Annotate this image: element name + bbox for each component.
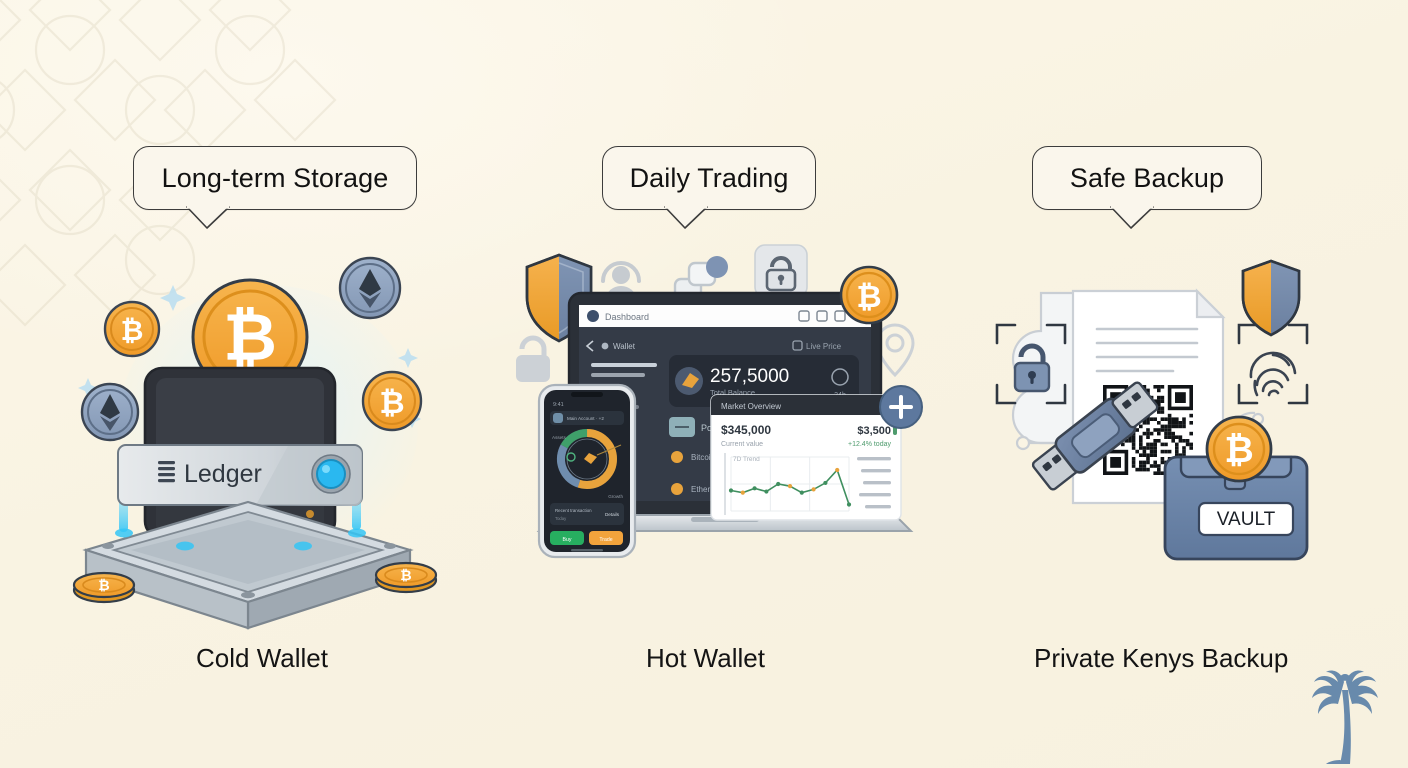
qr-module — [1168, 428, 1172, 432]
qr-module — [1168, 425, 1172, 429]
keys-backup-illustration: VAULT ₿ — [985, 255, 1315, 595]
qr-module — [1168, 435, 1172, 439]
qr-module — [1157, 428, 1161, 432]
qr-module — [1161, 428, 1165, 432]
qr-module — [1153, 439, 1157, 443]
data-point — [776, 482, 780, 486]
qr-module — [1153, 446, 1157, 450]
qr-module — [1164, 450, 1168, 454]
qr-module — [1189, 446, 1193, 450]
qr-module — [1146, 457, 1150, 461]
qr-module — [1143, 432, 1147, 436]
palm-tree-logo — [1300, 660, 1392, 764]
qr-module — [1132, 457, 1136, 461]
bubble-tail — [663, 207, 709, 229]
qr-module — [1171, 432, 1175, 436]
qr-module — [1175, 450, 1179, 454]
bitcoin-coin: ₿ — [841, 267, 897, 323]
qr-module — [1175, 435, 1179, 439]
qr-module — [1168, 432, 1172, 436]
qr-module — [1153, 461, 1157, 465]
svg-text:₿: ₿ — [400, 567, 411, 583]
qr-module — [1143, 468, 1147, 472]
qr-module — [1135, 450, 1139, 454]
qr-module — [1164, 425, 1168, 429]
qr-module — [1150, 443, 1154, 447]
data-point — [741, 491, 745, 495]
caption-hot-wallet: Hot Wallet — [646, 643, 765, 674]
qr-module — [1161, 417, 1165, 421]
qr-module — [1171, 421, 1175, 425]
ledger-band: Ledger — [118, 445, 362, 506]
ledger-brand-label: Ledger — [184, 460, 262, 488]
qr-module — [1157, 439, 1161, 443]
fingerprint-icon — [1251, 353, 1295, 395]
qr-module — [1146, 443, 1150, 447]
qr-module — [1139, 439, 1143, 443]
qr-module — [1171, 439, 1175, 443]
location-pin-icon — [877, 325, 913, 375]
qr-module — [1186, 443, 1190, 447]
data-point — [788, 484, 792, 488]
qr-module — [1143, 461, 1147, 465]
qr-module — [1146, 468, 1150, 472]
qr-module — [1150, 464, 1154, 468]
bitcoin-coin-small-right: ₿ — [363, 372, 421, 430]
qr-module — [1139, 468, 1143, 472]
laptop-titlebar-title: Dashboard — [605, 312, 649, 322]
qr-module — [1189, 414, 1193, 418]
qr-module — [1146, 428, 1150, 432]
phone-info-sub: Today — [555, 516, 567, 521]
qr-module — [1179, 421, 1183, 425]
app-logo-dot — [587, 310, 599, 322]
phone-chart-label-right: Growth — [608, 494, 623, 499]
qr-module — [1146, 446, 1150, 450]
data-point — [764, 489, 768, 493]
qr-module — [1153, 471, 1157, 475]
vault-label: VAULT — [1217, 509, 1276, 530]
qr-module — [1143, 450, 1147, 454]
ethereum-coin-left — [82, 384, 138, 440]
qr-module — [1161, 407, 1165, 411]
svg-text:₿: ₿ — [856, 279, 881, 314]
qr-module — [1139, 453, 1143, 457]
qr-module — [1182, 417, 1186, 421]
data-point — [753, 486, 757, 490]
qr-module — [1161, 425, 1165, 429]
data-point — [847, 502, 851, 506]
qr-module — [1146, 435, 1150, 439]
qr-module — [1161, 396, 1165, 400]
qr-module — [1135, 468, 1139, 472]
qr-module — [1157, 396, 1161, 400]
qr-module — [1182, 425, 1186, 429]
caption-cold-wallet: Cold Wallet — [196, 643, 328, 674]
cold-wallet-illustration: ₿ ₿ ₿ — [60, 250, 480, 630]
svg-text:₿: ₿ — [1224, 429, 1253, 470]
qr-module — [1132, 464, 1136, 468]
qr-module — [1139, 435, 1143, 439]
qr-module — [1186, 439, 1190, 443]
card-change-sub: +12.4% today — [848, 441, 892, 448]
caption-keys-backup: Private Kenys Backup — [1034, 643, 1288, 674]
qr-module — [1157, 471, 1161, 475]
bubble-label: Daily Trading — [630, 163, 789, 194]
phone-status-time: 9:41 — [553, 402, 564, 408]
qr-module — [1132, 443, 1136, 447]
qr-module — [1139, 464, 1143, 468]
qr-module — [1168, 417, 1172, 421]
market-overview-card: Market Overview $345,000 Current value $… — [711, 395, 901, 520]
phone-chart-label-left: Assets — [552, 435, 566, 440]
qr-module — [1168, 421, 1172, 425]
qr-module — [1182, 446, 1186, 450]
qr-module — [1153, 443, 1157, 447]
qr-module — [1143, 464, 1147, 468]
laptop-nav-label: Wallet — [613, 342, 636, 351]
card-chart-legend: 7D Trend — [733, 456, 760, 463]
infographic-canvas: Long-term Storage Daily Trading Safe Bac… — [0, 0, 1408, 768]
qr-module — [1157, 389, 1161, 393]
qr-module — [1150, 450, 1154, 454]
bitcoin-coin-small-left: ₿ — [105, 302, 159, 356]
qr-module — [1164, 443, 1168, 447]
qr-module — [1179, 439, 1183, 443]
svg-text:Buy: Buy — [563, 537, 572, 543]
qr-module — [1143, 446, 1147, 450]
qr-module — [1182, 450, 1186, 454]
qr-module — [1182, 421, 1186, 425]
qr-module — [1175, 421, 1179, 425]
qr-module — [1164, 428, 1168, 432]
data-point — [812, 487, 816, 491]
card-header: Market Overview — [721, 402, 781, 411]
svg-text:₿: ₿ — [379, 385, 404, 420]
svg-text:₿: ₿ — [121, 315, 144, 346]
card-value-sub: Current value — [721, 441, 763, 448]
qr-module — [1139, 425, 1143, 429]
qr-module — [1146, 432, 1150, 436]
hot-wallet-illustration: Dashboard Wallet Live Price — [505, 245, 930, 585]
phone-notch — [571, 392, 603, 397]
qr-module — [1179, 435, 1183, 439]
qr-module — [1157, 468, 1161, 472]
qr-module — [1189, 443, 1193, 447]
qr-module — [1157, 399, 1161, 403]
qr-module — [1153, 464, 1157, 468]
ethereum-coin-top — [340, 258, 400, 318]
bubble-tail — [185, 207, 231, 229]
phone-account-row: Main Account · +2 — [567, 416, 604, 421]
data-point — [800, 491, 804, 495]
qr-module — [1132, 435, 1136, 439]
qr-module — [1157, 432, 1161, 436]
qr-module — [1139, 446, 1143, 450]
card-value: $345,000 — [721, 423, 771, 437]
bitcoin-coin: ₿ — [1207, 417, 1271, 481]
qr-module — [1175, 417, 1179, 421]
phone-info-action: Details — [605, 512, 620, 517]
qr-module — [1161, 410, 1165, 414]
qr-module — [1143, 453, 1147, 457]
phone-info-title: Recent transaction — [555, 508, 592, 513]
data-point — [835, 468, 839, 472]
laptop-nav-right-label: Live Price — [806, 342, 842, 351]
qr-module — [1153, 453, 1157, 457]
qr-module — [1161, 443, 1165, 447]
ground-coin-right: ₿ — [376, 563, 436, 592]
qr-module — [1132, 461, 1136, 465]
svg-text:₿: ₿ — [98, 577, 109, 593]
ground-coin-left: ₿ — [74, 573, 134, 602]
qr-module — [1171, 435, 1175, 439]
qr-module — [1146, 421, 1150, 425]
qr-module — [1157, 385, 1161, 389]
qr-module — [1171, 417, 1175, 421]
qr-module — [1161, 461, 1165, 465]
qr-module — [1179, 425, 1183, 429]
phone: 9:41 Main Account · +2 Assets Growth Rec… — [539, 385, 635, 557]
qr-module — [1164, 435, 1168, 439]
qr-module — [1161, 385, 1165, 389]
qr-module — [1168, 450, 1172, 454]
qr-module — [1132, 439, 1136, 443]
qr-module — [1171, 425, 1175, 429]
qr-module — [1168, 414, 1172, 418]
qr-module — [1132, 446, 1136, 450]
data-point — [823, 481, 827, 485]
add-button[interactable] — [880, 386, 922, 428]
qr-module — [1150, 432, 1154, 436]
qr-module — [1175, 446, 1179, 450]
laptop-balance-amount: 257,5000 — [710, 366, 789, 387]
card-change: $3,500 — [857, 425, 891, 437]
qr-module — [1150, 417, 1154, 421]
qr-module — [1164, 417, 1168, 421]
bubble-long-term-storage: Long-term Storage — [133, 146, 417, 210]
qr-module — [1161, 457, 1165, 461]
data-point — [729, 488, 733, 492]
svg-text:Trade: Trade — [599, 537, 612, 543]
qr-module — [1153, 417, 1157, 421]
qr-module — [1175, 443, 1179, 447]
bubble-tail — [1109, 207, 1155, 229]
qr-module — [1153, 450, 1157, 454]
qr-module — [1146, 461, 1150, 465]
qr-module — [1153, 428, 1157, 432]
svg-text:₿: ₿ — [223, 300, 277, 374]
qr-module — [1150, 446, 1154, 450]
qr-module — [1153, 385, 1157, 389]
qr-module — [1139, 443, 1143, 447]
qr-module — [1189, 432, 1193, 436]
bubble-label: Long-term Storage — [162, 163, 389, 194]
qr-module — [1157, 410, 1161, 414]
qr-module — [1157, 421, 1161, 425]
qr-module — [1182, 439, 1186, 443]
qr-module — [1157, 464, 1161, 468]
bubble-safe-backup: Safe Backup — [1032, 146, 1262, 210]
lock-badge-icon — [755, 245, 807, 297]
phone-home-indicator — [571, 549, 603, 551]
qr-module — [1150, 453, 1154, 457]
padlock-icon — [516, 338, 550, 382]
qr-module — [1161, 450, 1165, 454]
qr-module — [1175, 425, 1179, 429]
qr-module — [1139, 461, 1143, 465]
qr-module — [1161, 399, 1165, 403]
list-bullet — [671, 451, 683, 463]
qr-module — [1164, 432, 1168, 436]
qr-module — [1146, 453, 1150, 457]
list-bullet — [671, 483, 683, 495]
qr-module — [1189, 421, 1193, 425]
bubble-label: Safe Backup — [1070, 163, 1224, 194]
qr-module — [1128, 439, 1132, 443]
bubble-daily-trading: Daily Trading — [602, 146, 816, 210]
